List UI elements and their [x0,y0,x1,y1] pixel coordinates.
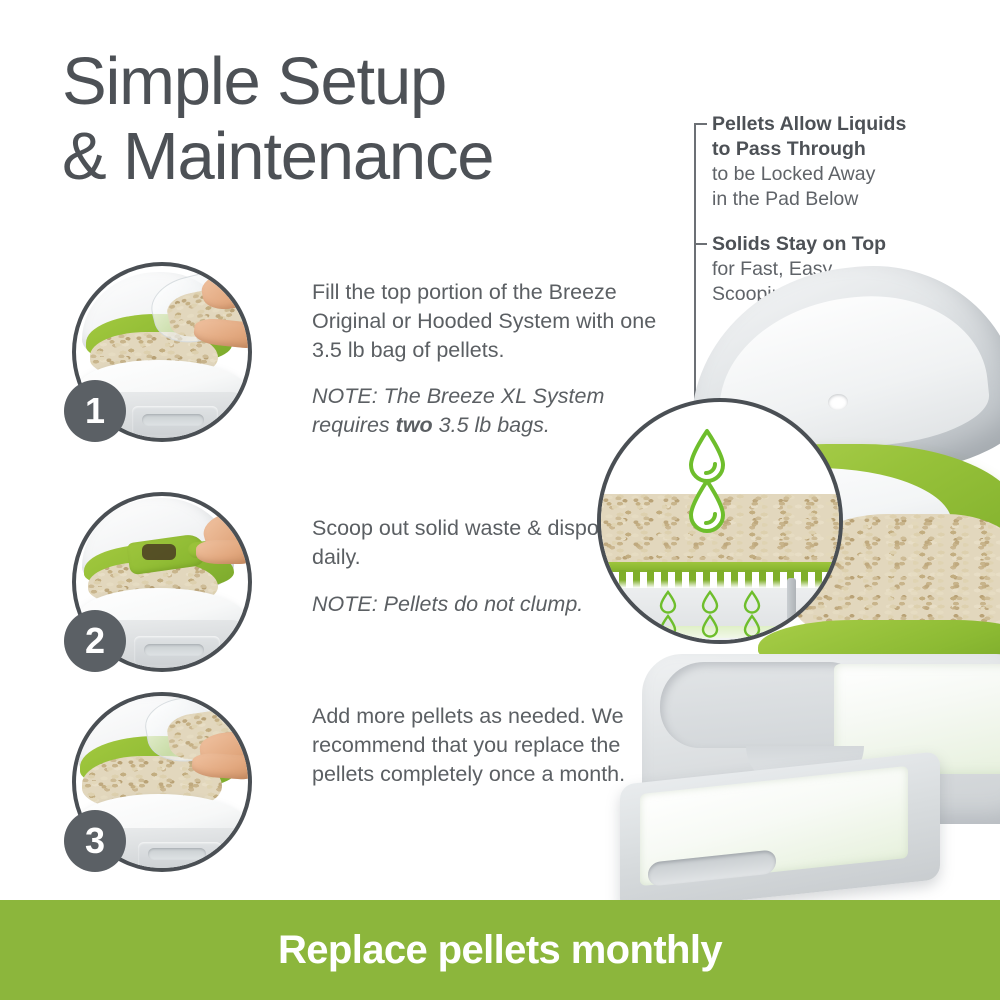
inset-divider-wall [787,578,796,640]
callout-tick-1 [694,123,707,125]
callout-pellets-allow-liquids: Pellets Allow Liquids to Pass Through to… [712,112,1000,212]
callout-1-sub-line-1: to be Locked Away [712,162,1000,187]
bottom-banner: Replace pellets monthly [0,900,1000,1000]
page-title-line-1: Simple Setup [62,44,682,119]
callout-2-heading-line-1: Solids Stay on Top [712,232,1000,257]
small-droplet-icon-5 [701,614,719,638]
small-droplet-icon-3 [743,590,761,614]
step-1-number-badge: 1 [64,380,126,442]
step-3-number-badge: 3 [64,810,126,872]
bottom-banner-text: Replace pellets monthly [0,900,1000,1000]
small-droplet-icon-1 [659,590,677,614]
page-title-line-2: & Maintenance [62,119,682,194]
callout-1-heading-line-2: to Pass Through [712,137,1000,162]
step-1-note-bold: two [396,413,433,437]
callout-1-heading-line-1: Pellets Allow Liquids [712,112,1000,137]
callout-1-sub-line-2: in the Pad Below [712,187,1000,212]
small-droplet-icon-6 [743,614,761,638]
infographic-canvas: Simple Setup & Maintenance 1 Fill the to… [0,0,1000,1000]
product-base-cavity [660,662,860,748]
callout-tick-2 [694,243,707,245]
liquid-droplet-icon-middle [685,478,729,536]
inset-grate-teeth [597,570,843,588]
small-droplet-icon-2 [701,590,719,614]
step-1-note-suffix: 3.5 lb bags. [433,413,550,437]
detail-inset-circle [597,398,843,644]
small-droplet-icon-4 [659,614,677,638]
step-2-note-prefix: NOTE: Pellets do not clump. [312,592,583,616]
step-2-number-badge: 2 [64,610,126,672]
page-title: Simple Setup & Maintenance [62,44,682,194]
